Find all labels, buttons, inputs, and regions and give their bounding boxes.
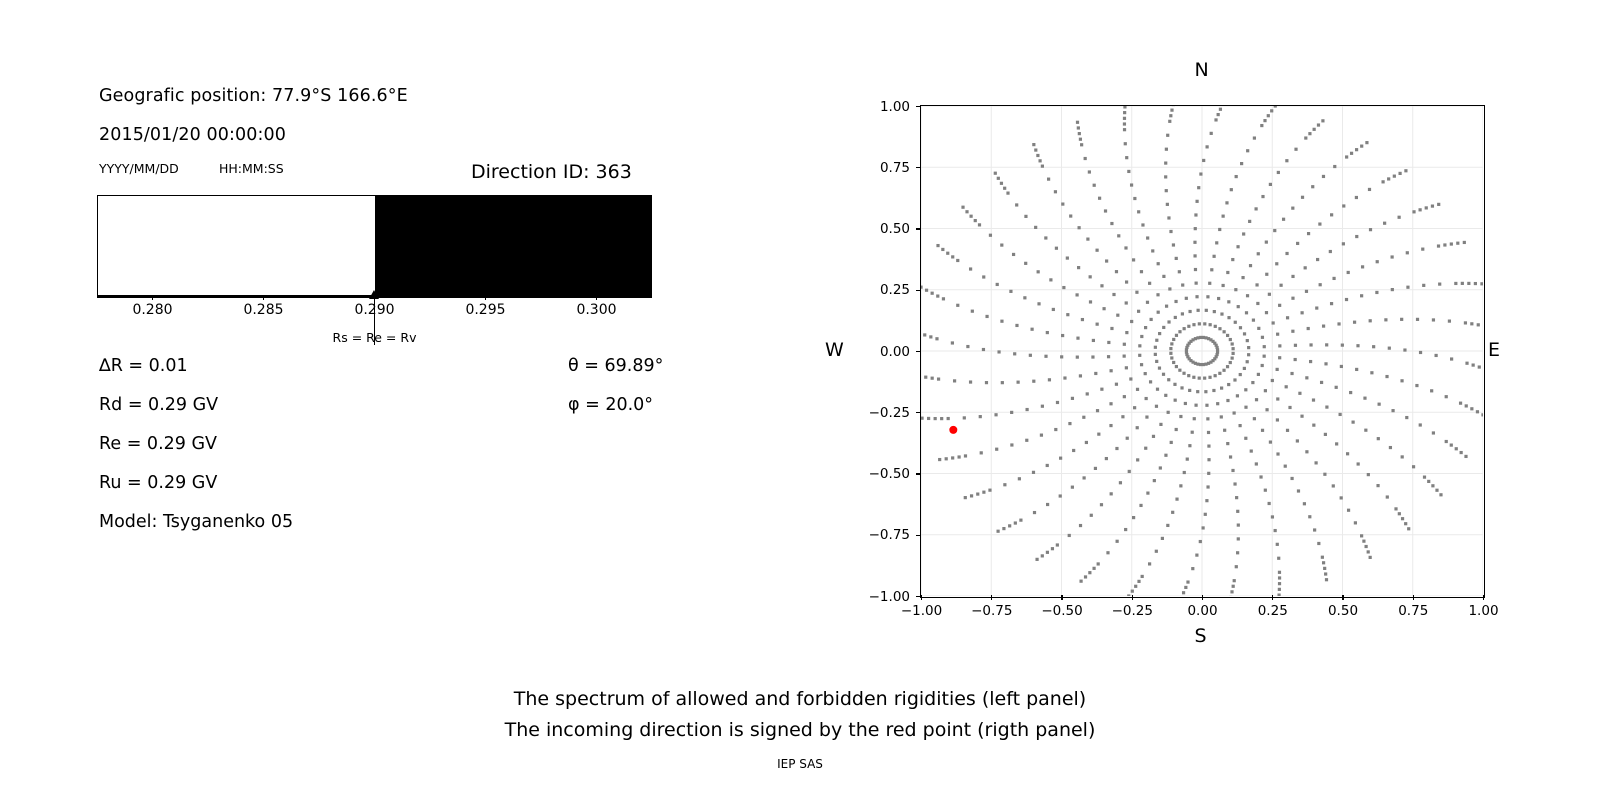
stat-re: Re = 0.29 GV [99, 434, 217, 454]
left-panel: Geografic position: 77.9°S 166.6°E 2015/… [0, 0, 760, 800]
y-tick-label: −0.75 [850, 527, 910, 543]
spectrum-forbidden-region [375, 195, 653, 296]
y-tick-label: −0.50 [850, 466, 910, 482]
direction-id-label: Direction ID: 363 [471, 161, 632, 183]
x-tickmark [991, 595, 992, 600]
x-tick-label: 0.00 [1168, 603, 1238, 619]
compass-label-east: E [1488, 339, 1500, 361]
x-tick-label: −0.75 [957, 603, 1027, 619]
spectrum-tick-label: 0.300 [576, 302, 616, 318]
y-tickmark [916, 290, 921, 291]
x-tickmark [1132, 595, 1133, 600]
geographic-position-text: Geografic position: 77.9°S 166.6°E [99, 86, 408, 106]
spectrum-tick [263, 296, 264, 300]
stat-theta: θ = 69.89° [568, 356, 663, 376]
spectrum-tick-label: 0.285 [243, 302, 283, 318]
x-tickmark [921, 595, 922, 600]
x-tickmark [1061, 595, 1062, 600]
y-tickmark [916, 473, 921, 474]
x-tick-label: 1.00 [1449, 603, 1519, 619]
y-tickmark [916, 535, 921, 536]
x-tickmark [1202, 595, 1203, 600]
caption-line-1: The spectrum of allowed and forbidden ri… [0, 688, 1600, 710]
direction-polar-plot [920, 105, 1485, 598]
cutoff-arrow-head [369, 290, 379, 299]
time-format-hint: HH:MM:SS [219, 161, 284, 176]
spectrum-tick [152, 296, 153, 300]
x-tick-label: 0.75 [1378, 603, 1448, 619]
y-tickmark [916, 351, 921, 352]
stat-phi: φ = 20.0° [568, 395, 653, 415]
compass-label-south: S [1195, 625, 1207, 647]
cutoff-arrow-label: Rs = Re = Rv [333, 330, 417, 345]
spectrum-tick-label: 0.295 [465, 302, 505, 318]
y-tickmark [916, 228, 921, 229]
caption-line-2: The incoming direction is signed by the … [0, 719, 1600, 741]
x-tickmark [1483, 595, 1484, 600]
y-tick-label: 0.25 [850, 282, 910, 298]
spectrum-tick [596, 296, 597, 300]
stat-model: Model: Tsyganenko 05 [99, 512, 293, 532]
x-tickmark [1272, 595, 1273, 600]
stat-ru: Ru = 0.29 GV [99, 473, 217, 493]
y-tick-label: 0.50 [850, 221, 910, 237]
spectrum-tick [485, 296, 486, 300]
x-tick-label: −0.50 [1027, 603, 1097, 619]
x-tick-label: 0.25 [1238, 603, 1308, 619]
x-tick-label: −1.00 [887, 603, 957, 619]
x-tick-label: −0.25 [1097, 603, 1167, 619]
stat-delta-r: ∆R = 0.01 [99, 356, 188, 376]
scatter-canvas [921, 106, 1483, 596]
y-tickmark [916, 412, 921, 413]
footer-credit: IEP SAS [0, 757, 1600, 771]
incoming-direction-point [949, 426, 957, 434]
x-tickmark [1342, 595, 1343, 600]
y-tick-label: −0.25 [850, 405, 910, 421]
rigidity-spectrum-bar [97, 195, 652, 296]
x-tick-label: 0.50 [1308, 603, 1378, 619]
y-tickmark [916, 106, 921, 107]
compass-label-north: N [1195, 59, 1209, 81]
stat-rd: Rd = 0.29 GV [99, 395, 218, 415]
y-tick-label: 0.75 [850, 160, 910, 176]
x-tickmark [1413, 595, 1414, 600]
y-tick-label: 1.00 [850, 99, 910, 115]
compass-label-west: W [825, 339, 844, 361]
datetime-text: 2015/01/20 00:00:00 [99, 125, 286, 145]
y-tick-label: 0.00 [850, 344, 910, 360]
y-tickmark [916, 167, 921, 168]
spectrum-tick-label: 0.280 [132, 302, 172, 318]
date-format-hint: YYYY/MM/DD [99, 161, 179, 176]
